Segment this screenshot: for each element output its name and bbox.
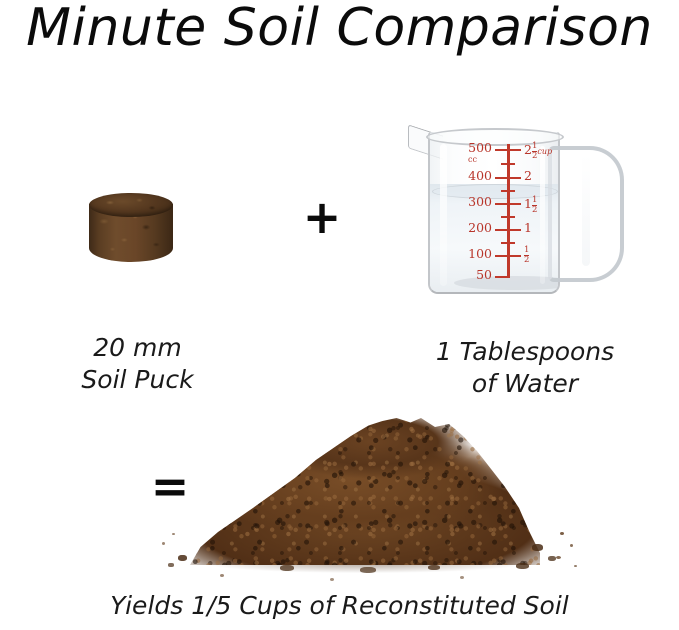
soil-speck: [162, 542, 165, 545]
page-title: Minute Soil Comparison: [0, 0, 679, 58]
soil-puck-icon: [89, 193, 173, 265]
pile-crumb: [178, 555, 187, 561]
infographic-canvas: Minute Soil Comparison + 500 cc 212cup: [0, 0, 679, 630]
cup-handle-highlight: [582, 154, 590, 266]
soil-speck: [172, 533, 175, 535]
pile-crumb: [548, 556, 556, 561]
soil-speck: [220, 574, 224, 577]
soil-puck-caption: 20 mm Soil Puck: [30, 332, 245, 396]
pile-crumb: [168, 563, 174, 567]
soil-pile-icon: [160, 395, 580, 575]
soil-puck-caption-line2: Soil Puck: [30, 364, 245, 396]
pile-crumb: [280, 565, 294, 571]
pile-texture: [190, 415, 540, 565]
pile-crumb: [428, 565, 440, 570]
soil-speck: [574, 565, 577, 567]
water-caption-line1: 1 Tablespoons: [415, 336, 635, 368]
soil-speck: [560, 532, 564, 535]
soil-speck: [570, 544, 573, 547]
soil-puck-caption-line1: 20 mm: [30, 332, 245, 364]
cup-highlight-left: [440, 144, 447, 286]
cup-highlight-right: [540, 146, 545, 284]
puck-top-face: [89, 193, 173, 217]
measuring-cup-icon: 500 cc 212cup 400 2 300 112 200 1: [406, 124, 621, 304]
soil-speck: [500, 539, 503, 541]
cup-rim: [426, 128, 564, 146]
soil-speck: [556, 556, 561, 559]
water-caption: 1 Tablespoons of Water: [415, 336, 635, 400]
pile-crumb: [532, 544, 543, 551]
result-caption: Yields 1/5 Cups of Reconstituted Soil: [0, 590, 679, 622]
soil-speck: [330, 578, 334, 581]
pile-crumb: [360, 567, 376, 573]
soil-speck: [460, 576, 464, 579]
pile-crumb: [516, 563, 529, 569]
plus-operator: +: [298, 193, 346, 241]
